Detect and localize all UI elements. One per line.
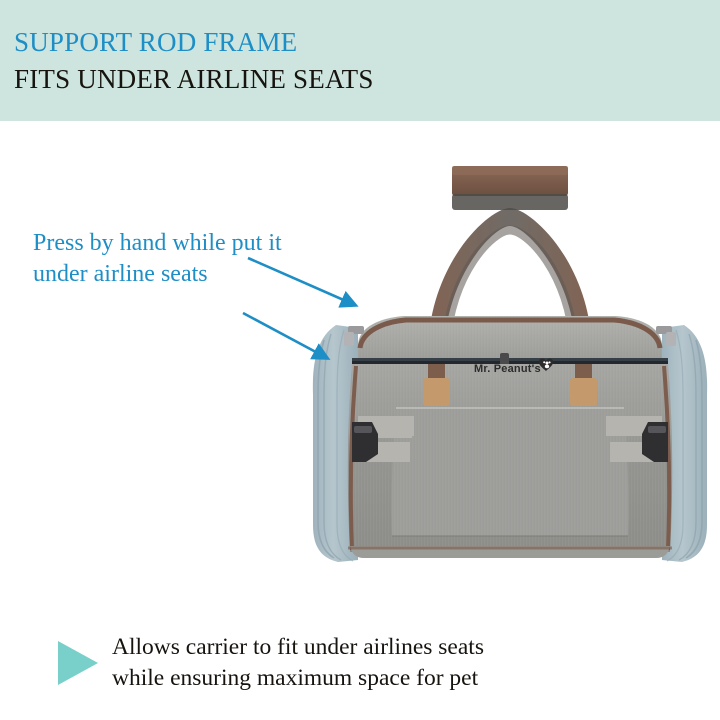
- caption-line-1: Allows carrier to fit under airlines sea…: [112, 632, 484, 663]
- annotation-line-2: under airline seats: [33, 259, 393, 290]
- leather-tab-right: [570, 378, 597, 406]
- product-image: [300, 150, 720, 570]
- caption-line-2: while ensuring maximum space for pet: [112, 663, 484, 694]
- page-title: SUPPORT ROD FRAME: [14, 27, 297, 58]
- triangle-bullet-icon: [58, 641, 98, 685]
- page-subtitle: FITS UNDER AIRLINE SEATS: [14, 64, 374, 95]
- brand-label: Mr. Peanut's: [474, 363, 541, 375]
- header-band: [0, 0, 720, 121]
- annotation-callout: Press by hand while put it under airline…: [33, 228, 393, 290]
- leather-tab-left: [423, 378, 450, 406]
- caption-text: Allows carrier to fit under airlines sea…: [112, 632, 484, 694]
- caption-block: Allows carrier to fit under airlines sea…: [58, 632, 678, 694]
- annotation-line-1: Press by hand while put it: [33, 228, 393, 259]
- product-infographic: SUPPORT ROD FRAME FITS UNDER AIRLINE SEA…: [0, 0, 720, 720]
